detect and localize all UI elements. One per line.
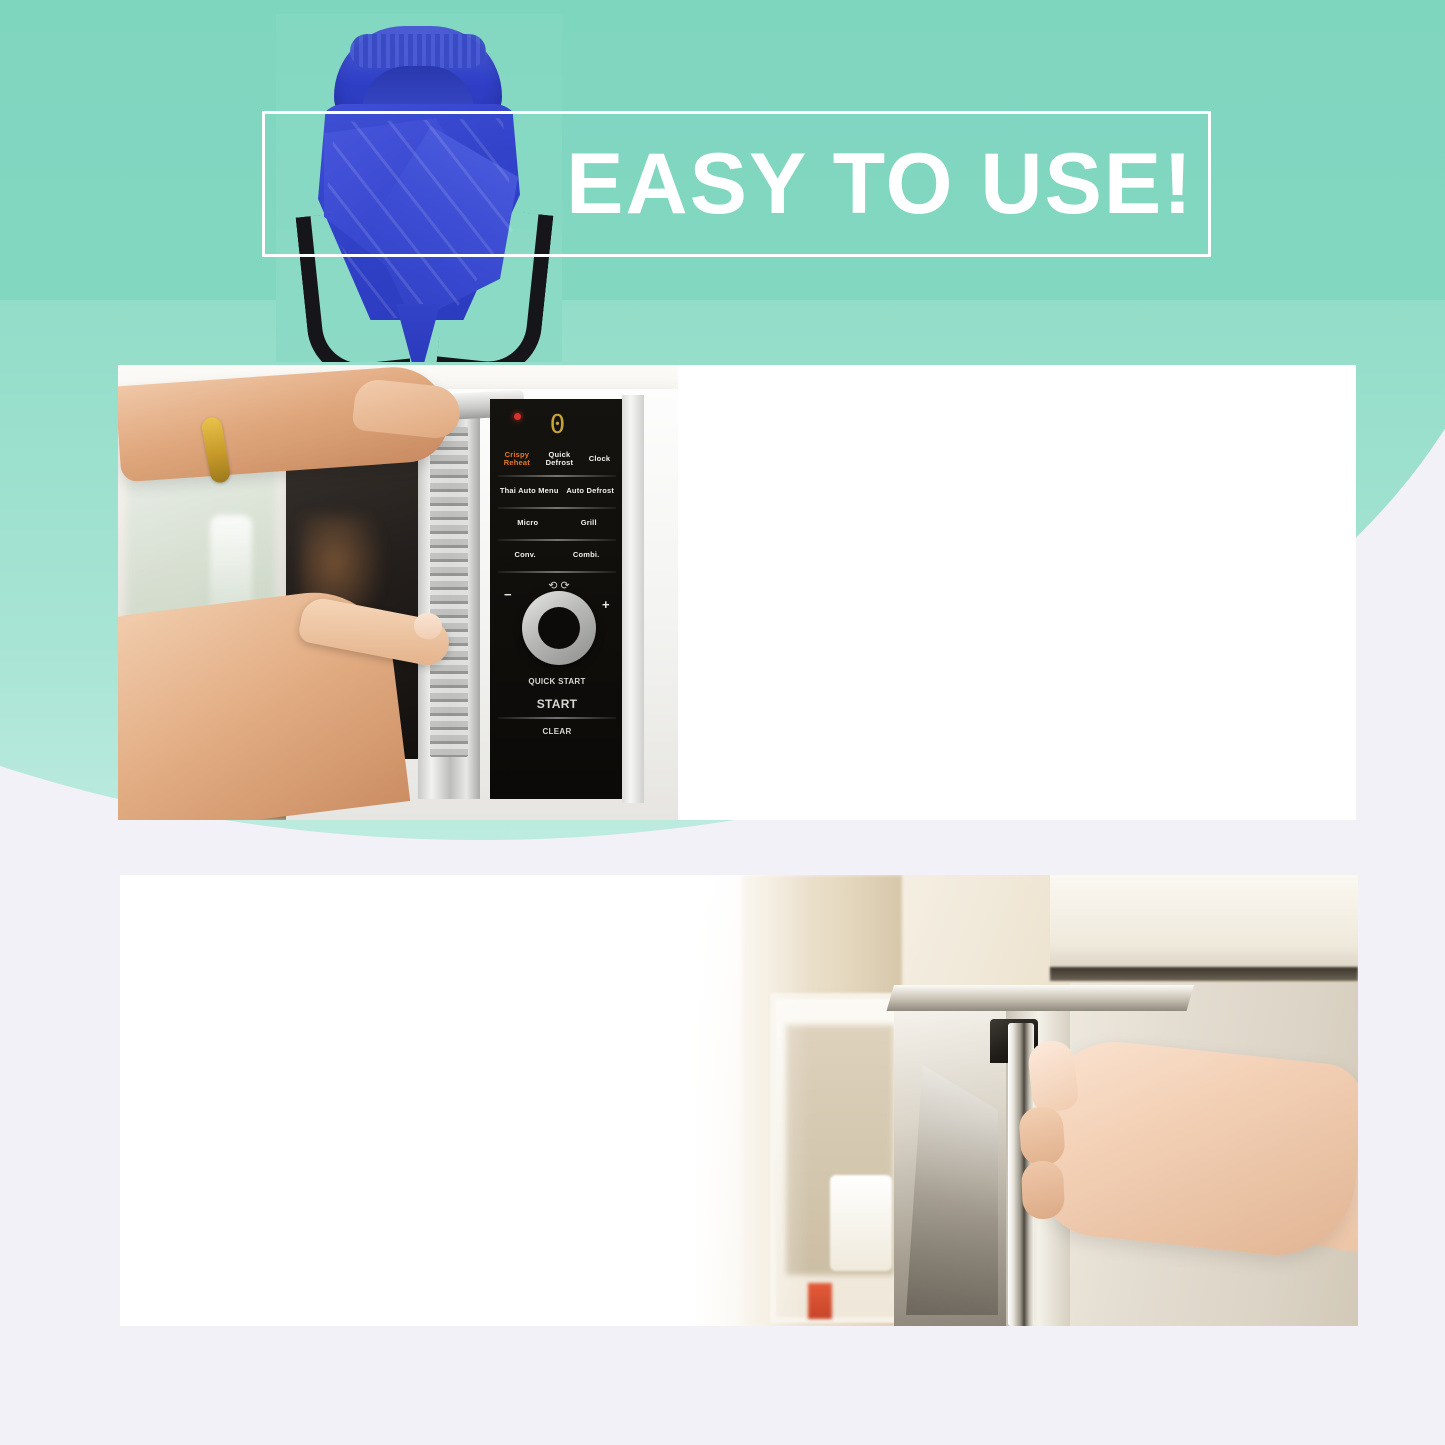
microwave-button-row-4: Conv. Combi. [496,551,618,559]
page-title: EASY TO USE! [560,128,1200,240]
microwave-button-row-3: Micro Grill [496,519,618,527]
microwave-plus-label: + [602,597,610,612]
freezer-upper-compartment [1050,875,1358,975]
fridge-white-container [830,1175,892,1271]
microwave-vent-grille [430,427,468,757]
fridge-red-item [808,1283,832,1319]
microwave-button-row-2: Thai Auto Menu Auto Defrost [496,487,618,495]
microwave-panel-separator-2 [498,507,616,509]
microwave-clear-button[interactable]: CLEAR [496,727,618,736]
microwave-button-grill[interactable]: Grill [581,519,597,527]
photo-left-fade [690,875,810,1326]
microwave-panel-separator-1 [498,475,616,477]
finger-ring [1021,1160,1065,1219]
freezer-photo [690,875,1358,1326]
microwave-button-auto-defrost[interactable]: Auto Defrost [566,487,614,495]
microwave-panel-separator-5 [498,717,616,719]
microwave-panel-edge [622,395,644,803]
microwave-button-thai-auto-menu[interactable]: Thai Auto Menu [500,487,559,495]
microwave-button-conv[interactable]: Conv. [515,551,536,559]
microwave-photo: 0 Crispy Reheat Quick Defrost Clock [118,365,678,820]
microwave-dial-center [538,607,580,649]
microwave-start-button[interactable]: START [496,697,618,711]
finger-middle [1018,1106,1066,1167]
card-heat-in-the-microwave: 0 Crispy Reheat Quick Defrost Clock [118,365,1356,820]
door-top-chrome-trim [887,985,1194,1011]
microwave-indicator-led [514,413,521,420]
microwave-panel-separator-3 [498,539,616,541]
microwave-button-combi[interactable]: Combi. [573,551,600,559]
microwave-panel-separator-4 [498,571,616,573]
card-chill-in-the-freezer: CHILL IN THE FREEZER Relieve injured mus… [120,875,1358,1326]
microwave-minus-label: − [504,587,512,602]
wrap-collar-ribbing [350,34,486,68]
microwave-button-micro[interactable]: Micro [517,519,538,527]
microwave-quick-start-label[interactable]: QUICK START [496,677,618,686]
infographic-canvas: EASY TO USE! 0 Crispy Reheat [0,0,1445,1445]
microwave-button-row-1: Crispy Reheat Quick Defrost Clock [496,451,618,467]
microwave-button-quick-defrost[interactable]: Quick Defrost [546,451,574,467]
microwave-button-clock[interactable]: Clock [589,455,610,463]
microwave-display: 0 [530,409,586,441]
hand-gripping-handle [1033,1035,1358,1263]
microwave-button-crispy-reheat[interactable]: Crispy Reheat [504,451,530,467]
freezer-compartment-gap [1050,967,1358,981]
